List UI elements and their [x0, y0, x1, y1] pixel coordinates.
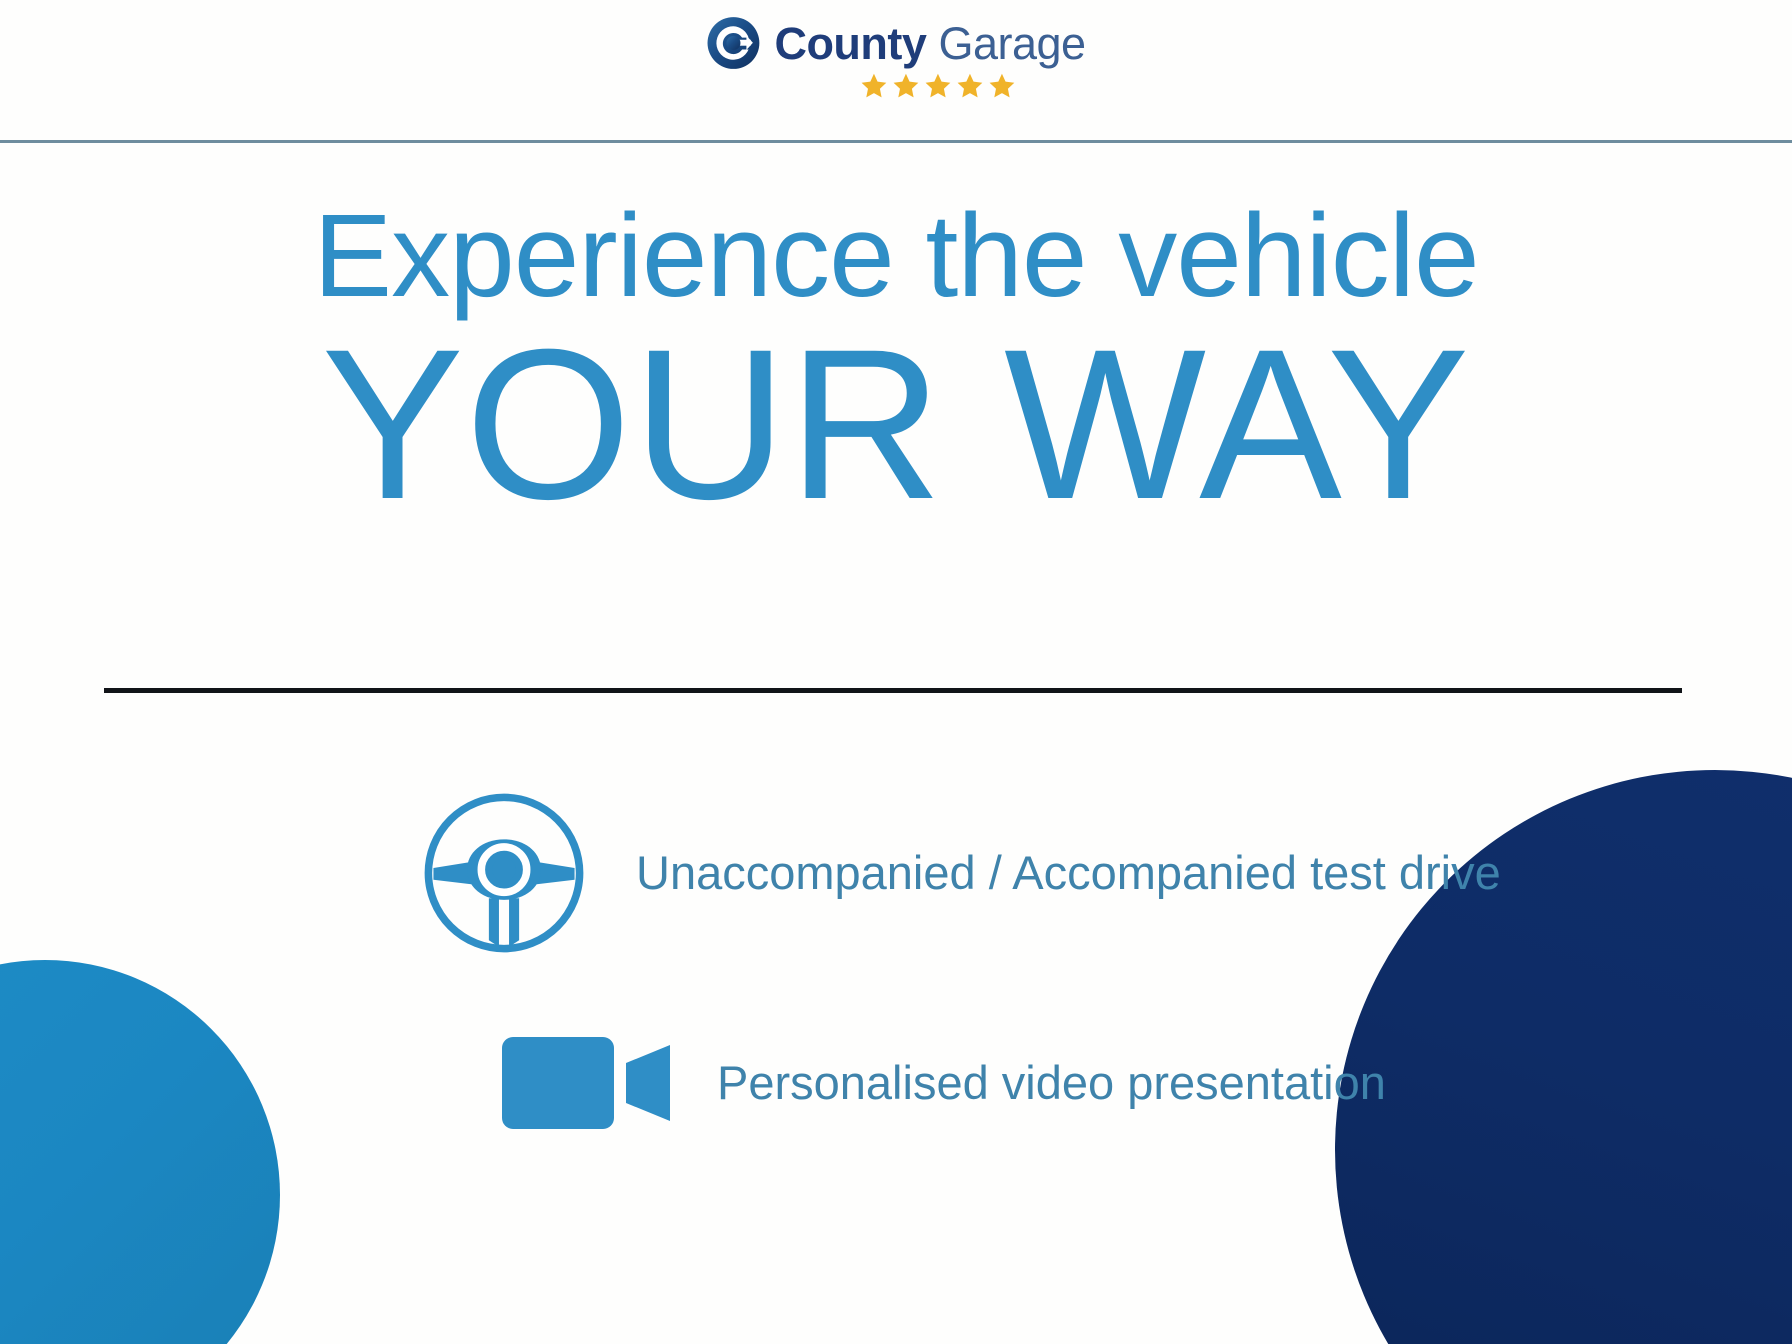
star-icon	[924, 72, 951, 99]
star-icon	[956, 72, 983, 99]
feature-list: Unaccompanied / Accompanied test drive P…	[0, 768, 1792, 1188]
video-camera-icon	[500, 1033, 675, 1133]
star-icon	[860, 72, 887, 99]
feature-label-video: Personalised video presentation	[717, 1057, 1386, 1109]
star-rating	[860, 72, 1015, 99]
star-icon	[892, 72, 919, 99]
logo-word-county: County	[774, 18, 926, 69]
logo-row: County Garage	[706, 16, 1085, 70]
steering-wheel-icon	[420, 789, 588, 957]
headline-line-2: YOUR WAY	[0, 318, 1792, 532]
feature-item-video: Personalised video presentation	[0, 978, 1792, 1188]
headline-divider	[104, 688, 1682, 693]
feature-icon-wrapper	[420, 789, 588, 957]
feature-item-test-drive: Unaccompanied / Accompanied test drive	[0, 768, 1792, 978]
feature-label-test-drive: Unaccompanied / Accompanied test drive	[636, 847, 1501, 899]
star-icon	[988, 72, 1015, 99]
feature-icon-wrapper	[500, 1033, 675, 1133]
headline-line-1: Experience the vehicle	[0, 196, 1792, 316]
logo-word-garage: Garage	[938, 18, 1085, 69]
logo-lockup[interactable]: County Garage	[706, 16, 1085, 99]
promo-banner: County Garage	[0, 0, 1792, 1344]
county-circle-logo-icon	[706, 16, 760, 70]
brand-header: County Garage	[0, 0, 1792, 141]
headline-block: Experience the vehicle YOUR WAY	[0, 196, 1792, 532]
logo-wordmark: County Garage	[774, 21, 1085, 66]
